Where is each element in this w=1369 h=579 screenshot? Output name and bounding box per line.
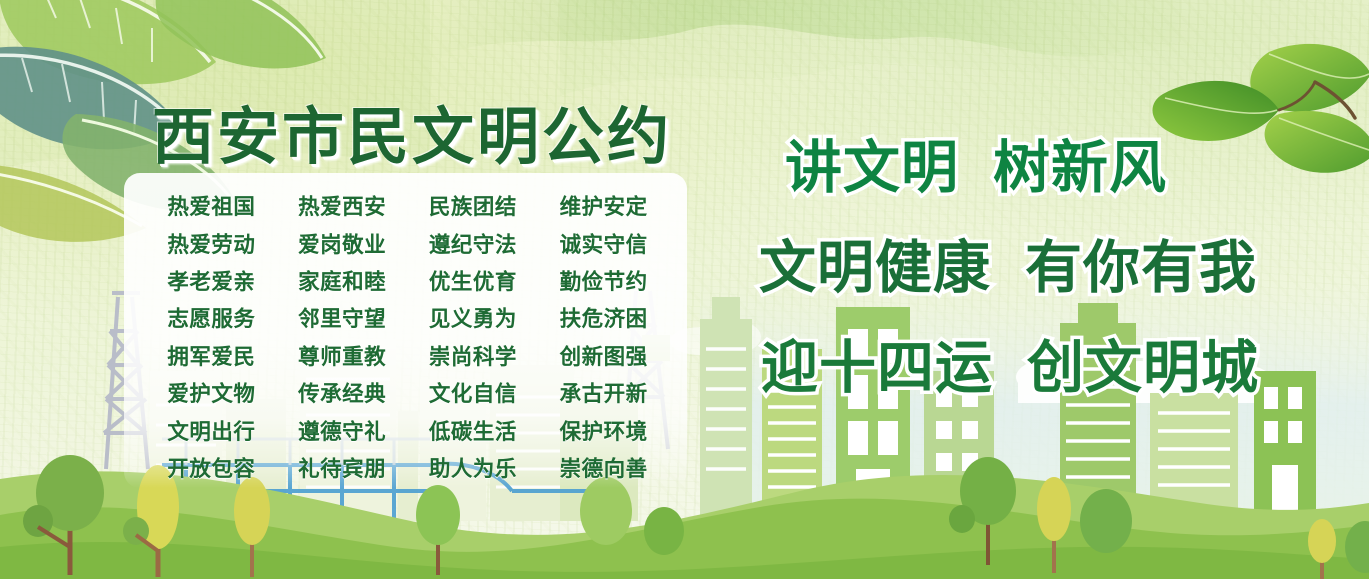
slogan-2-right: 有你有我 (1025, 236, 1257, 300)
pledge-item: 扶危济困 (538, 302, 669, 333)
pledge-item: 优生优育 (408, 265, 539, 296)
pledge-item: 保护环境 (538, 415, 669, 446)
pledge-item: 助人为乐 (408, 452, 539, 483)
pledge-item: 见义勇为 (408, 302, 539, 333)
pledge-item: 孝老爱亲 (146, 265, 277, 296)
pledge-panel: 热爱祖国 热爱西安 民族团结 维护安定 热爱劳动 爱岗敬业 遵纪守法 诚实守信 … (124, 173, 687, 488)
civility-pledge-poster: 西安市民文明公约 热爱祖国 热爱西安 民族团结 维护安定 热爱劳动 爱岗敬业 遵… (0, 0, 1369, 579)
pledge-item: 家庭和睦 (277, 265, 408, 296)
slogan-3-left: 迎十四运 (761, 336, 993, 400)
pledge-grid: 热爱祖国 热爱西安 民族团结 维护安定 热爱劳动 爱岗敬业 遵纪守法 诚实守信 … (124, 173, 687, 488)
slogan-line-1: 讲文明树新风 (745, 140, 1360, 197)
pledge-item: 遵纪守法 (408, 228, 539, 259)
tree-icon (644, 507, 684, 555)
pledge-item: 传承经典 (277, 377, 408, 408)
pledge-item: 爱护文物 (146, 377, 277, 408)
pledge-item: 热爱西安 (277, 190, 408, 221)
pledge-item: 爱岗敬业 (277, 228, 408, 259)
slogan-1-right: 树新风 (993, 136, 1167, 200)
pledge-item: 热爱劳动 (146, 228, 277, 259)
slogan-2-left: 文明健康 (759, 236, 991, 300)
pledge-item: 民族团结 (408, 190, 539, 221)
pledge-item: 勤俭节约 (538, 265, 669, 296)
slogan-3-right: 创文明城 (1027, 336, 1259, 400)
pledge-item: 承古开新 (538, 377, 669, 408)
pledge-item: 热爱祖国 (146, 190, 277, 221)
pledge-item: 低碳生活 (408, 415, 539, 446)
pledge-item: 尊师重教 (277, 340, 408, 371)
tree-icon (1080, 489, 1132, 553)
page-title: 西安市民文明公约 (152, 86, 672, 176)
pledge-item: 遵德守礼 (277, 415, 408, 446)
slogan-line-3: 迎十四运创文明城 (745, 340, 1360, 397)
pledge-item: 礼待宾朋 (277, 452, 408, 483)
pledge-item: 拥军爱民 (146, 340, 277, 371)
pledge-item: 崇德向善 (538, 452, 669, 483)
pledge-item: 志愿服务 (146, 302, 277, 333)
pledge-item: 文明出行 (146, 415, 277, 446)
slogan-line-2: 文明健康有你有我 (745, 240, 1360, 297)
pledge-item: 创新图强 (538, 340, 669, 371)
pledge-item: 邻里守望 (277, 302, 408, 333)
slogan-block: 讲文明树新风 文明健康有你有我 迎十四运创文明城 (745, 140, 1360, 440)
pledge-item: 文化自信 (408, 377, 539, 408)
pledge-item: 诚实守信 (538, 228, 669, 259)
pledge-item: 开放包容 (146, 452, 277, 483)
slogan-1-left: 讲文明 (785, 136, 959, 200)
pledge-item: 崇尚科学 (408, 340, 539, 371)
pledge-item: 维护安定 (538, 190, 669, 221)
